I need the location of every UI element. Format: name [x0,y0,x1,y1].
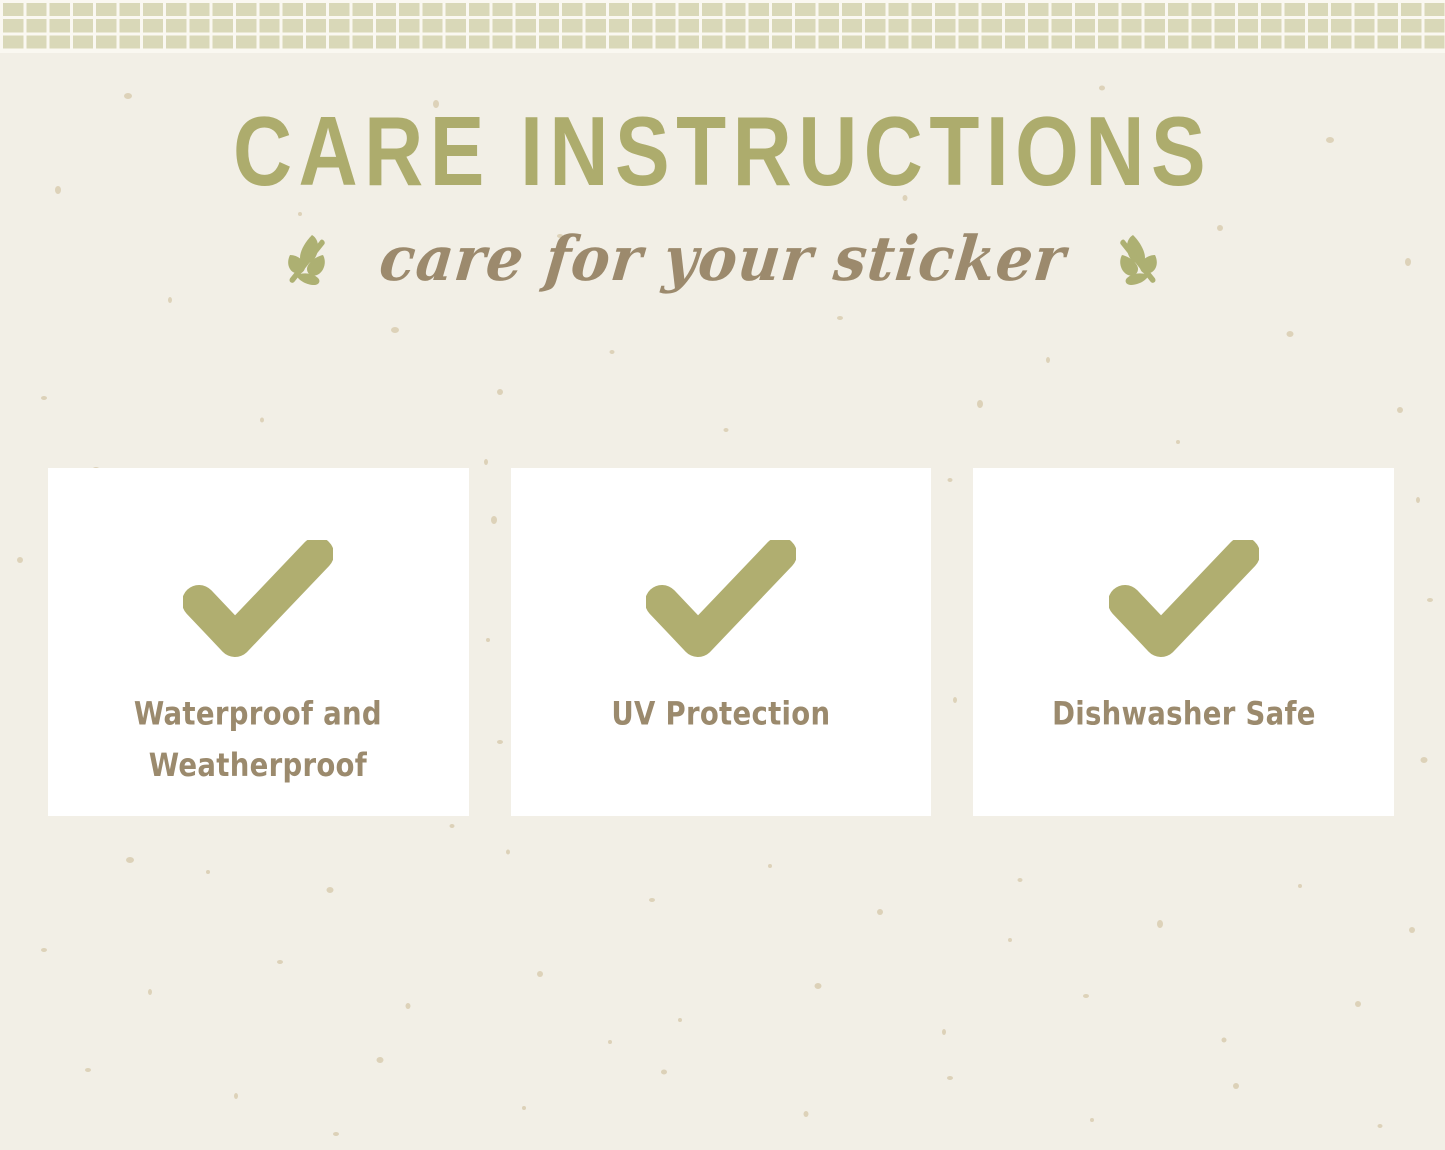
checkmark-icon [183,540,333,658]
top-grid-pattern-strip [0,0,1445,53]
page-subtitle: care for your sticker [376,229,1068,290]
feature-card-label-line: Dishwasher Safe [1012,688,1356,740]
feature-card: Waterproof and Weatherproof [48,468,469,816]
feature-card-label: UV Protection [549,688,893,740]
subtitle-row: care for your sticker [0,216,1445,302]
checkmark-icon [1109,540,1259,658]
feature-card-label: Dishwasher Safe [1012,688,1356,740]
feature-card-label: Waterproof and Weatherproof [86,688,430,791]
feature-card-row: Waterproof and Weatherproof UV Protectio… [48,468,1394,816]
feature-card: UV Protection [511,468,932,816]
feature-card-label-line: Waterproof and [86,688,430,740]
header: CARE INSTRUCTIONS care for your sticker [0,53,1445,302]
feature-card-label-line: Weatherproof [86,740,430,792]
care-instructions-page: CARE INSTRUCTIONS care for your sticker [0,0,1445,1150]
page-title: CARE INSTRUCTIONS [51,103,1395,199]
feature-card: Dishwasher Safe [973,468,1394,816]
leaf-sprig-icon [282,231,328,287]
feature-card-label-line: UV Protection [549,688,893,740]
leaf-sprig-icon [1117,231,1163,287]
checkmark-icon [646,540,796,658]
